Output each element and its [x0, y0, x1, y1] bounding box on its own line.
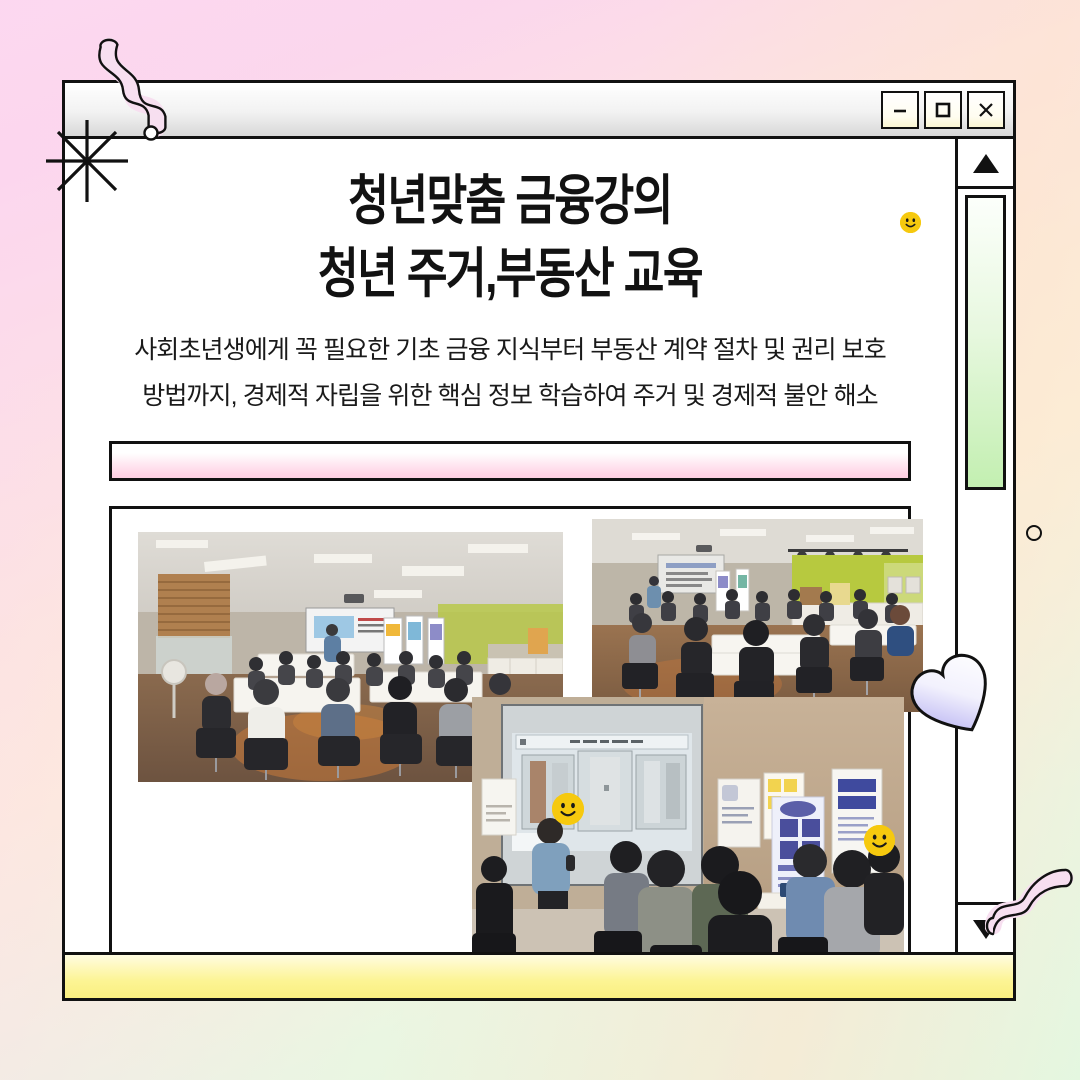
- close-icon: [976, 100, 996, 120]
- headline-line-2: 청년 주거,부동산 교육: [153, 238, 866, 311]
- photo-presentation-checklist: [472, 697, 904, 952]
- scrollbar-track[interactable]: [958, 189, 1013, 902]
- window-titlebar: [65, 83, 1013, 139]
- minimize-icon: [890, 100, 910, 120]
- photo-lecture-room-green-wall: [592, 519, 923, 712]
- smiley-sticker-audience: [864, 825, 895, 856]
- minimize-button[interactable]: [881, 91, 919, 129]
- maximize-icon: [933, 100, 953, 120]
- accent-bar: [109, 441, 911, 481]
- close-button[interactable]: [967, 91, 1005, 129]
- scroll-up-button[interactable]: [958, 139, 1013, 189]
- maximize-button[interactable]: [924, 91, 962, 129]
- triangle-down-icon: [971, 916, 1001, 942]
- headline-line-1: 청년맞춤 금융강의: [153, 165, 866, 238]
- subtitle-line-2: 방법까지, 경제적 자립을 위한 핵심 정보 학습하여 주거 및 경제적 불안 …: [75, 373, 945, 419]
- small-circle-icon: [1026, 525, 1042, 541]
- poster-background: 청년맞춤 금융강의 청년 주거,부동산 교육 사회초년생에게 꼭 필요한 기초 …: [0, 0, 1080, 1080]
- triangle-up-icon: [971, 150, 1001, 176]
- page-subtitle: 사회초년생에게 꼭 필요한 기초 금융 지식부터 부동산 계약 절차 및 권리 …: [75, 327, 945, 420]
- vertical-scrollbar[interactable]: [955, 139, 1013, 952]
- scrollbar-thumb[interactable]: [965, 195, 1006, 490]
- smiley-sticker-presenter: [552, 793, 584, 825]
- window-content: 청년맞춤 금융강의 청년 주거,부동산 교육 사회초년생에게 꼭 필요한 기초 …: [65, 139, 955, 952]
- retro-window: 청년맞춤 금융강의 청년 주거,부동산 교육 사회초년생에게 꼭 필요한 기초 …: [62, 80, 1016, 1001]
- window-statusbar: [65, 952, 1013, 998]
- subtitle-line-1: 사회초년생에게 꼭 필요한 기초 금융 지식부터 부동산 계약 절차 및 권리 …: [75, 327, 945, 373]
- window-body: 청년맞춤 금융강의 청년 주거,부동산 교육 사회초년생에게 꼭 필요한 기초 …: [65, 139, 1013, 952]
- page-title: 청년맞춤 금융강의 청년 주거,부동산 교육: [75, 139, 945, 311]
- scroll-down-button[interactable]: [958, 902, 1013, 952]
- photo-gallery: [109, 506, 911, 952]
